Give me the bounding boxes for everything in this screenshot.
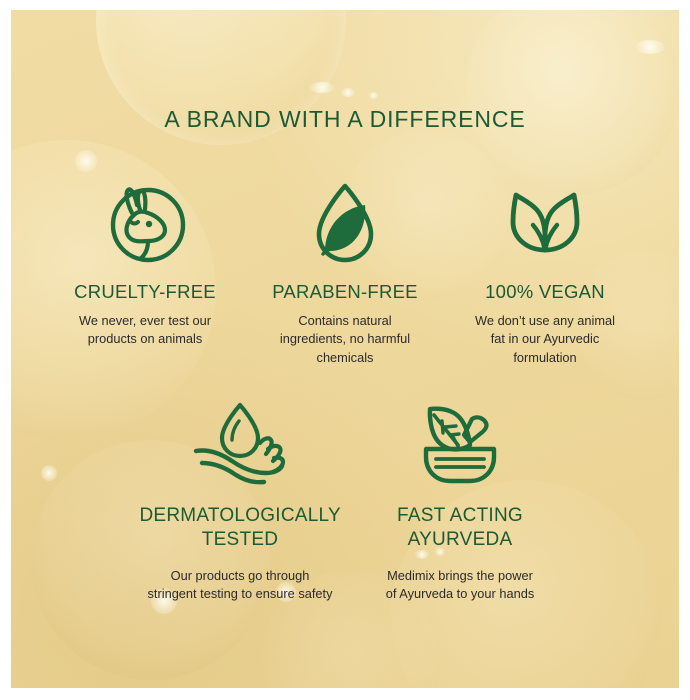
- feature-dermatologically-tested: DERMATOLOGICALLY TESTED Our products go …: [125, 400, 355, 604]
- feature-title: CRUELTY-FREE: [74, 280, 216, 304]
- feature-description-line: Medimix brings the power: [386, 567, 534, 586]
- feature-title: FAST ACTING AYURVEDA: [355, 504, 565, 553]
- poster-canvas: A BRAND WITH A DIFFERENCE: [11, 10, 679, 688]
- feature-vegan: 100% VEGAN We don’t use any animal fat i…: [445, 178, 645, 368]
- feature-description-line: We never, ever test our: [79, 312, 211, 331]
- feature-description-line: Our products go through: [148, 567, 333, 586]
- rabbit-in-circle-icon: [101, 178, 189, 268]
- feature-fast-acting-ayurveda: FAST ACTING AYURVEDA Medimix brings the …: [355, 400, 565, 604]
- droplet-over-hand-icon: [188, 400, 292, 490]
- poster-content: A BRAND WITH A DIFFERENCE: [11, 10, 679, 688]
- feature-description-line: products on animals: [79, 330, 211, 349]
- feature-description: Contains natural ingredients, no harmful…: [280, 312, 410, 368]
- feature-title-line: DERMATOLOGICALLY: [139, 505, 340, 526]
- feature-description: We don’t use any animal fat in our Ayurv…: [475, 312, 615, 368]
- feature-title: 100% VEGAN: [485, 280, 605, 304]
- feature-description: Medimix brings the power of Ayurveda to …: [386, 567, 534, 604]
- feature-title: PARABEN-FREE: [272, 280, 418, 304]
- feature-title: DERMATOLOGICALLY TESTED: [125, 504, 355, 553]
- two-leaves-icon: [501, 178, 589, 268]
- feature-description: We never, ever test our products on anim…: [79, 312, 211, 349]
- feature-description-line: stringent testing to ensure safety: [148, 585, 333, 604]
- feature-description-line: ingredients, no harmful: [280, 330, 410, 349]
- leaf-in-droplet-icon: [308, 178, 382, 268]
- feature-row-bottom: DERMATOLOGICALLY TESTED Our products go …: [11, 400, 679, 604]
- mortar-pestle-leaf-icon: [412, 400, 508, 490]
- feature-description-line: of Ayurveda to your hands: [386, 585, 534, 604]
- feature-cruelty-free: CRUELTY-FREE We never, ever test our pro…: [45, 178, 245, 368]
- feature-description-line: chemicals: [280, 349, 410, 368]
- feature-title-line: AYURVEDA: [408, 529, 513, 550]
- poster-frame: A BRAND WITH A DIFFERENCE: [0, 0, 690, 700]
- feature-description-line: fat in our Ayurvedic: [475, 330, 615, 349]
- feature-row-top: CRUELTY-FREE We never, ever test our pro…: [11, 178, 679, 368]
- feature-paraben-free: PARABEN-FREE Contains natural ingredient…: [245, 178, 445, 368]
- page-title: A BRAND WITH A DIFFERENCE: [11, 106, 679, 133]
- feature-description-line: formulation: [475, 349, 615, 368]
- feature-description-line: We don’t use any animal: [475, 312, 615, 331]
- feature-description: Our products go through stringent testin…: [148, 567, 333, 604]
- feature-description-line: Contains natural: [280, 312, 410, 331]
- feature-title-line: TESTED: [202, 529, 278, 550]
- feature-title-line: FAST ACTING: [397, 505, 523, 526]
